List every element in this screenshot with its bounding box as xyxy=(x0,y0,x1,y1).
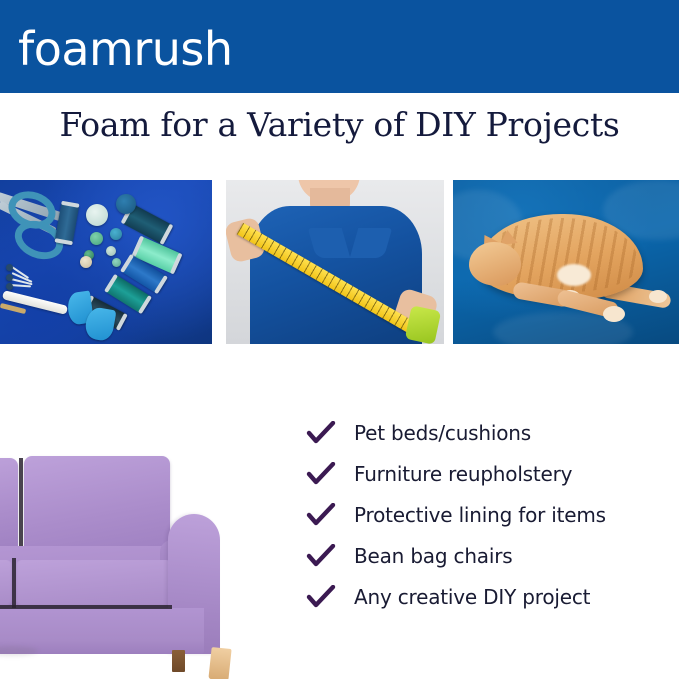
check-icon xyxy=(306,544,336,568)
sofa-leg-front xyxy=(208,647,231,679)
sofa-back-cushion-left xyxy=(0,458,18,556)
cat-belly-patch xyxy=(557,264,591,286)
list-item: Pet beds/cushions xyxy=(306,412,666,453)
feature-list: Pet beds/cushions Furniture reupholstery… xyxy=(306,412,666,617)
shirt-collar-left xyxy=(308,228,351,258)
button-blue-large xyxy=(116,194,136,214)
sofa-seat-gap xyxy=(12,558,16,608)
sewing-supplies-photo xyxy=(0,180,212,344)
sofa-cushion-gap xyxy=(19,458,23,558)
feature-label: Any creative DIY project xyxy=(354,585,590,609)
check-icon xyxy=(306,462,336,486)
list-item: Any creative DIY project xyxy=(306,576,666,617)
sofa-skirt-seam xyxy=(0,605,172,609)
feature-label: Protective lining for items xyxy=(354,503,606,527)
pin-head-2-icon xyxy=(6,274,13,281)
pin-head-3-icon xyxy=(6,283,13,290)
sofa-floor-shadow xyxy=(0,646,38,656)
sofa-back-cushion-right xyxy=(24,456,170,560)
sofa-leg-rear xyxy=(172,650,185,672)
list-item: Protective lining for items xyxy=(306,494,666,535)
brand-logo: foamrush xyxy=(18,26,233,72)
purple-sofa-illustration xyxy=(0,442,254,679)
button-large-white xyxy=(86,204,108,226)
foam-product-infographic: foamrush Foam for a Variety of DIY Proje… xyxy=(0,0,679,679)
feature-label: Furniture reupholstery xyxy=(354,462,572,486)
feature-label: Bean bag chairs xyxy=(354,544,512,568)
check-icon xyxy=(306,503,336,527)
header-banner: foamrush xyxy=(0,0,679,93)
tape-measure-photo xyxy=(226,180,444,344)
button-mint-small xyxy=(112,258,121,267)
page-headline: Foam for a Variety of DIY Projects xyxy=(0,104,679,146)
button-pale-small xyxy=(106,246,116,256)
feature-label: Pet beds/cushions xyxy=(354,421,531,445)
button-cream-small xyxy=(80,256,92,268)
check-icon xyxy=(306,421,336,445)
sofa-seat-cushion-right xyxy=(16,560,172,608)
sofa-seat-cushion-left xyxy=(0,560,12,608)
button-green-mid xyxy=(90,232,103,245)
pin-head-1-icon xyxy=(6,264,13,271)
cat-hind-paw xyxy=(603,306,625,322)
button-blue-mid xyxy=(110,228,122,240)
list-item: Bean bag chairs xyxy=(306,535,666,576)
check-icon xyxy=(306,585,336,609)
cat-head xyxy=(469,242,521,286)
cat-on-cushion-photo xyxy=(453,180,679,344)
shirt-collar-right xyxy=(350,228,393,258)
list-item: Furniture reupholstery xyxy=(306,453,666,494)
photo-strip xyxy=(0,180,679,344)
cat-tail-tip xyxy=(649,290,667,303)
